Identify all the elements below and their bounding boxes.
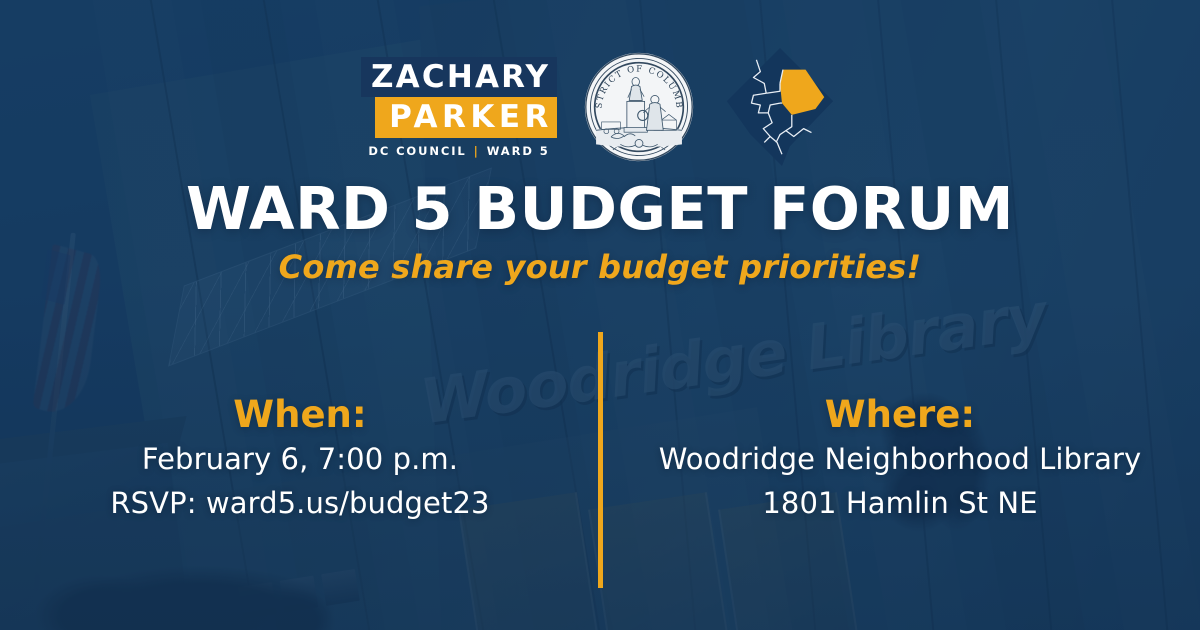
flyer-subtitle: Come share your budget priorities! <box>0 248 1200 286</box>
where-heading: Where: <box>626 392 1174 438</box>
dc-seal-icon: DISTRICT OF COLUMBIA <box>583 51 695 163</box>
logo-office: DC COUNCIL <box>368 144 466 158</box>
logo-tagline: DC COUNCIL | WARD 5 <box>361 144 557 158</box>
flyer-title: WARD 5 BUDGET FORUM <box>0 178 1200 240</box>
where-venue-name: Woodridge Neighborhood Library <box>626 438 1174 482</box>
when-heading: When: <box>26 392 574 438</box>
dc-ward-map-icon <box>721 44 839 170</box>
logo-last-name: PARKER <box>375 97 557 138</box>
flyer-content: ZACHARY PARKER DC COUNCIL | WARD 5 DIS <box>0 0 1200 630</box>
when-rsvp-link[interactable]: RSVP: ward5.us/budget23 <box>26 482 574 526</box>
logo-ward: WARD 5 <box>487 144 550 158</box>
when-date-time: February 6, 7:00 p.m. <box>26 438 574 482</box>
zachary-parker-logo: ZACHARY PARKER DC COUNCIL | WARD 5 <box>361 57 557 158</box>
when-column: When: February 6, 7:00 p.m. RSVP: ward5.… <box>0 392 600 525</box>
where-column: Where: Woodridge Neighborhood Library 18… <box>600 392 1200 525</box>
logo-separator: | <box>474 144 480 158</box>
flyer-canvas: Woodridge Library ZACHARY PARKER DC COUN… <box>0 0 1200 630</box>
logo-first-name: ZACHARY <box>361 57 557 97</box>
header-row: ZACHARY PARKER DC COUNCIL | WARD 5 DIS <box>0 44 1200 170</box>
where-address: 1801 Hamlin St NE <box>626 482 1174 526</box>
details-row: When: February 6, 7:00 p.m. RSVP: ward5.… <box>0 392 1200 525</box>
